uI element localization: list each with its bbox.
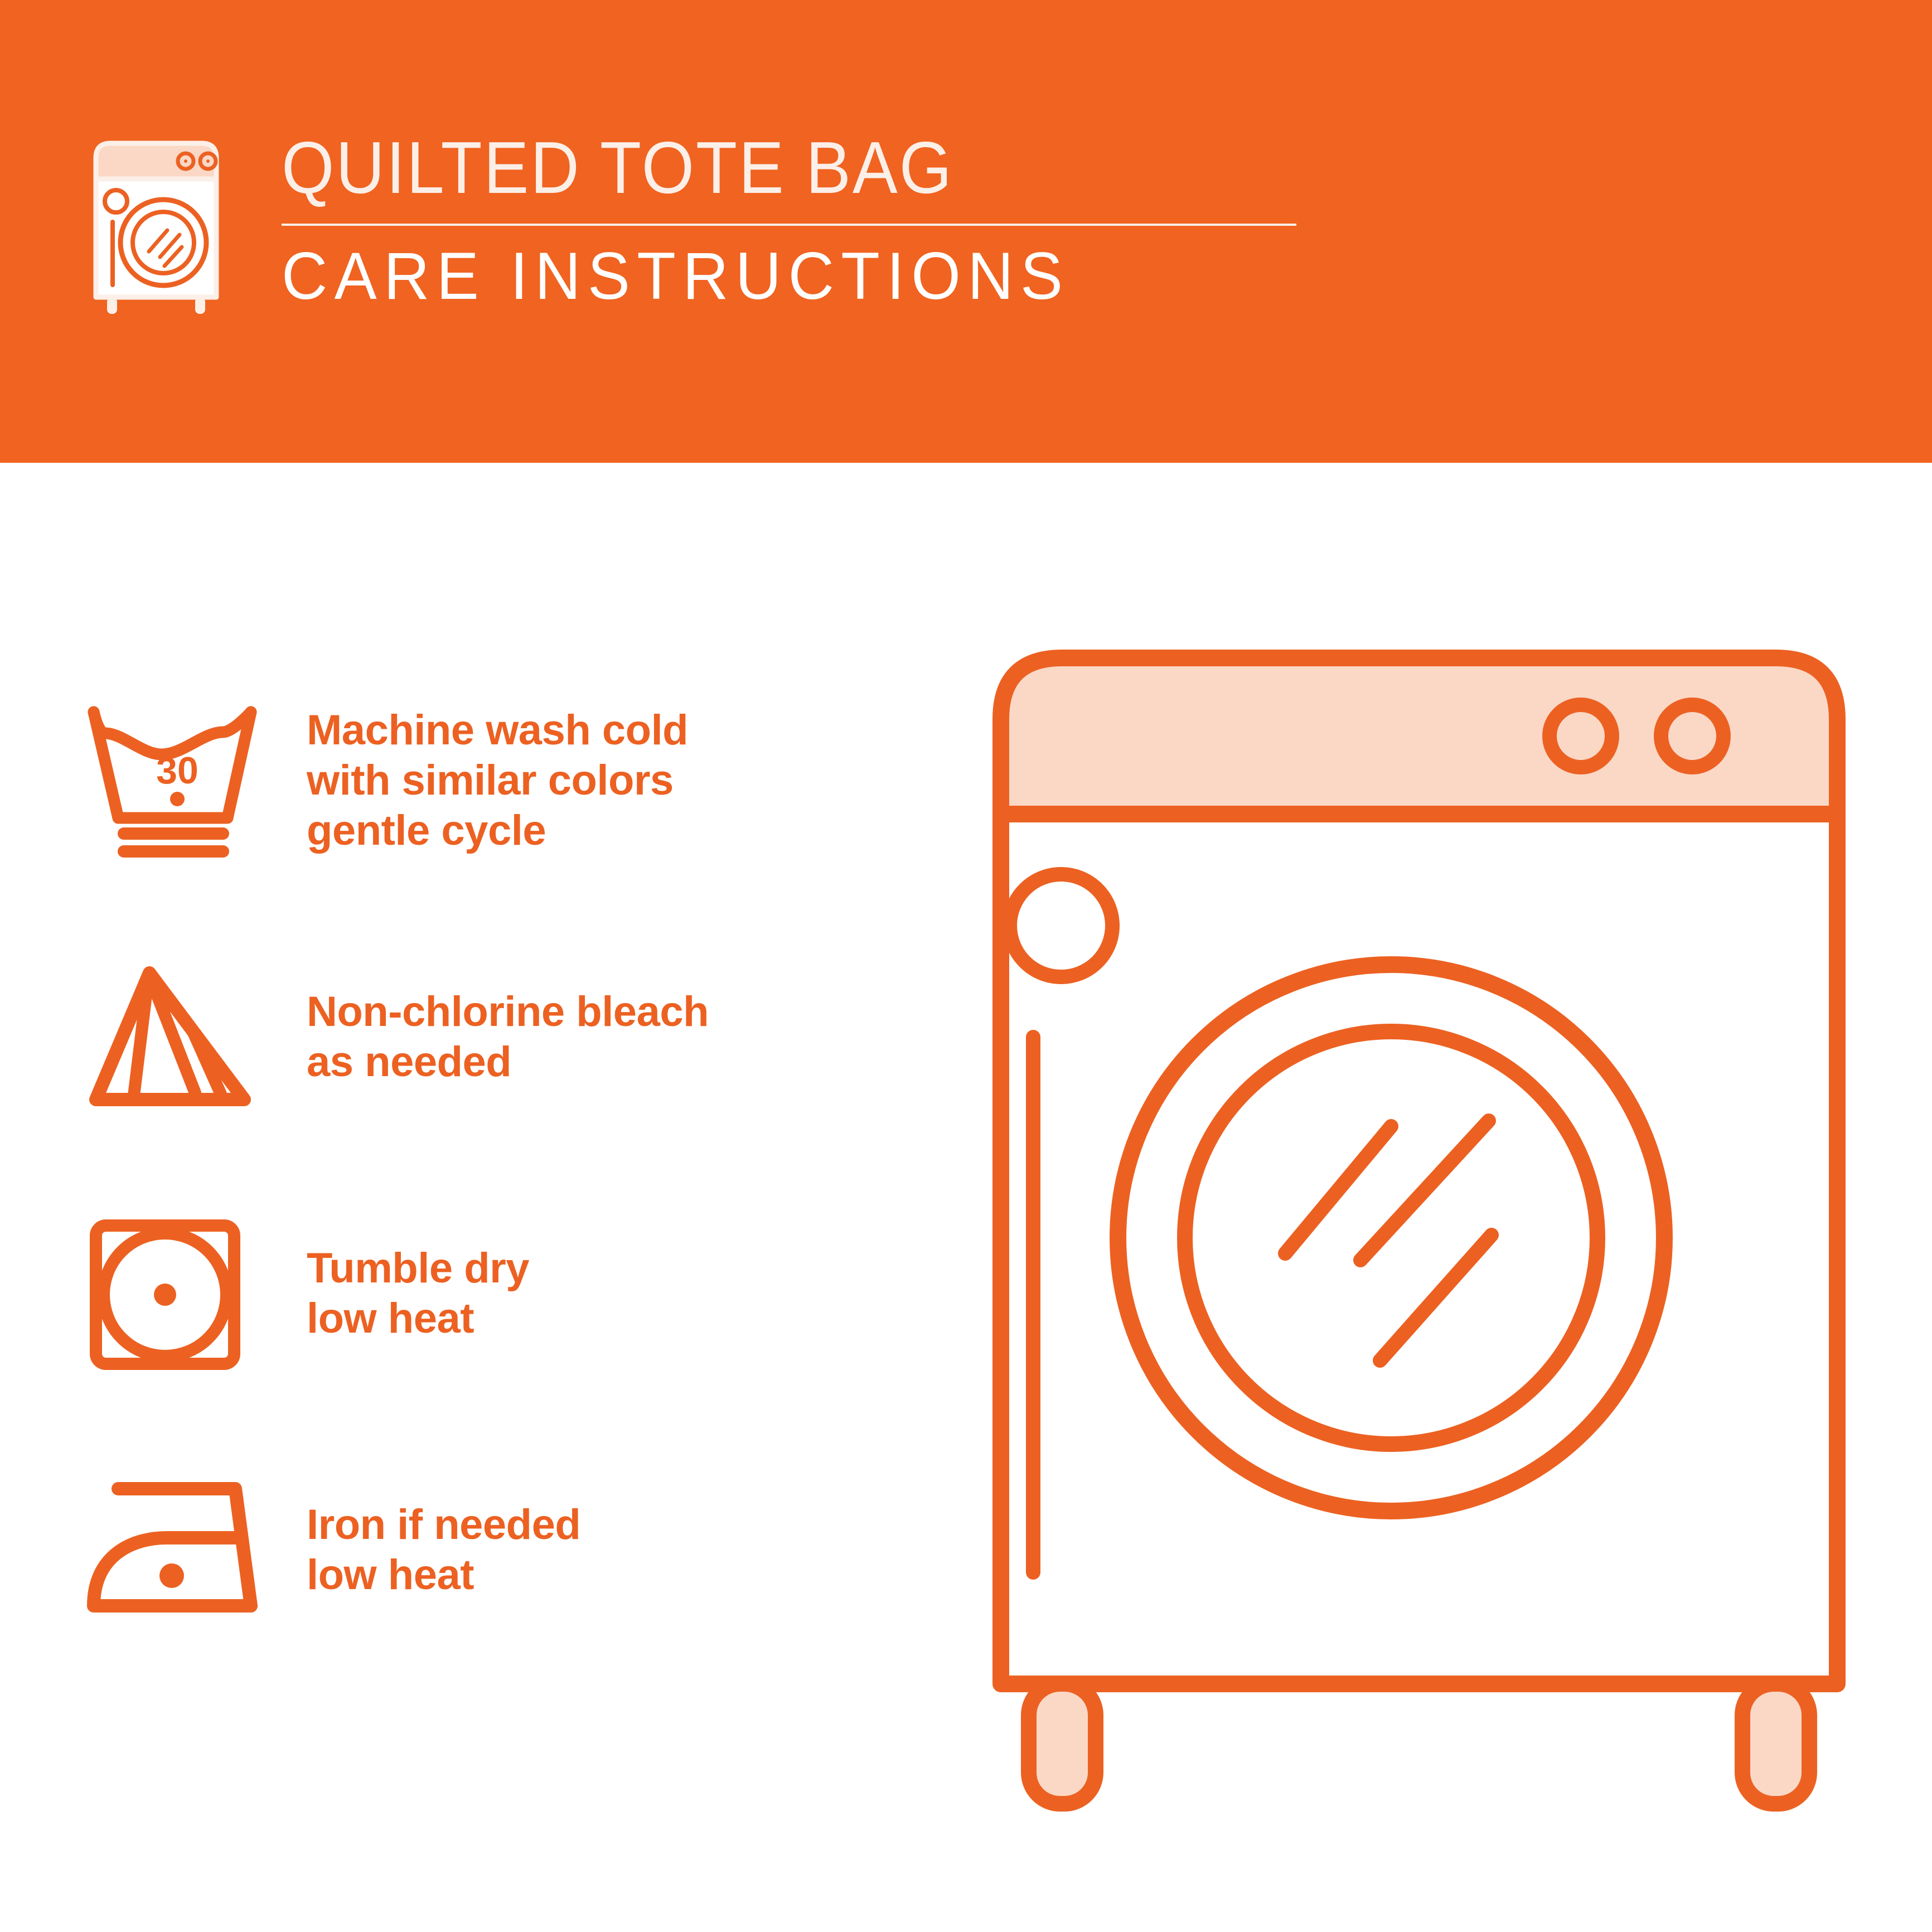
dial-left[interactable] [1550,705,1612,767]
care-item-label: Tumble dry low heat [307,1243,529,1343]
wash-tub-30-gentle-icon: 30 [84,700,268,861]
header-text-block: QUILTED TOTE BAG CARE INSTRUCTIONS [282,131,1296,309]
care-icon-slot: 30 [84,700,307,861]
indicator-light [1010,874,1112,977]
drum-inner-ring [1185,1032,1597,1444]
care-item-iron: Iron if needed low heat [84,1422,920,1678]
care-item-tumble-dry: Tumble dry low heat [84,1165,920,1422]
care-icon-slot [84,1472,307,1628]
iron-low-heat-icon [84,1472,273,1628]
care-item-bleach: Non-chlorine bleach as needed [84,909,920,1165]
care-icon-slot [84,1210,307,1377]
care-icon-slot [84,953,307,1121]
header-content: QUILTED TOTE BAG CARE INSTRUCTIONS [84,131,1296,319]
wash-temperature-value: 30 [156,749,198,792]
shine-line-3 [1380,1235,1492,1360]
document-subtitle: CARE INSTRUCTIONS [282,243,1246,309]
leg-left [1029,1684,1096,1804]
leg-right [1742,1684,1809,1804]
care-item-machine-wash: 30 Machine wash cold with similar colors… [84,652,920,909]
care-instruction-list: 30 Machine wash cold with similar colors… [84,652,920,1678]
dial-right[interactable] [1661,705,1723,767]
title-divider [282,224,1296,226]
washing-machine-illustration [967,624,1871,1840]
page-title: QUILTED TOTE BAG [282,131,1215,205]
non-chlorine-bleach-triangle-icon [84,953,268,1121]
tumble-dry-low-heat-icon [84,1210,268,1377]
care-item-label: Machine wash cold with similar colors ge… [307,705,688,855]
washing-machine-logo-icon [84,135,245,319]
header-banner: QUILTED TOTE BAG CARE INSTRUCTIONS [0,0,1932,463]
care-item-label: Iron if needed low heat [307,1500,580,1600]
care-item-label: Non-chlorine bleach as needed [307,987,709,1087]
drum-outer-ring [1118,965,1664,1511]
